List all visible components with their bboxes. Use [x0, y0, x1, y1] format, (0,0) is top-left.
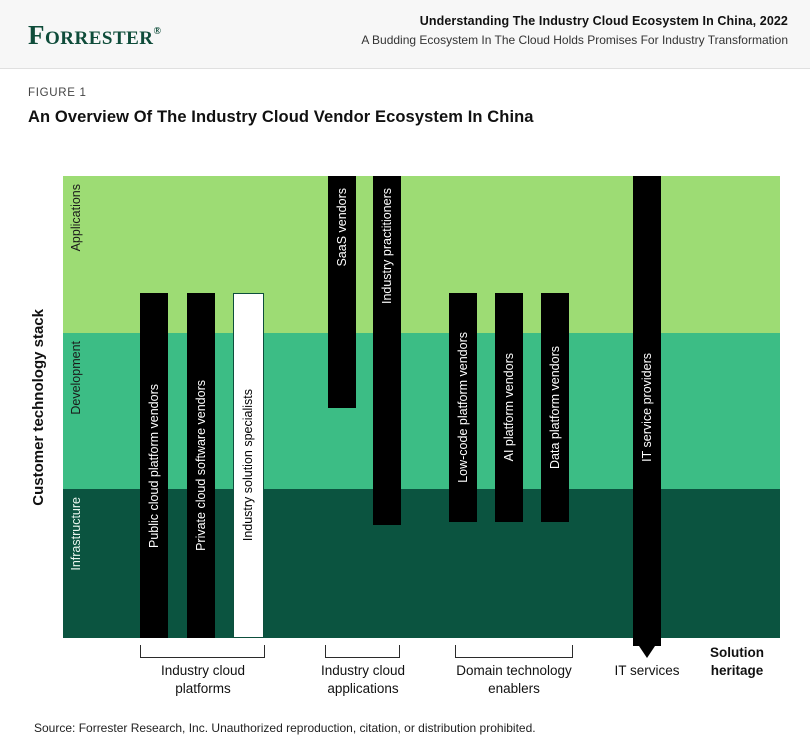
- bar-label-public-cloud-platform-vendors: Public cloud platform vendors: [148, 384, 161, 548]
- source-note: Source: Forrester Research, Inc. Unautho…: [34, 721, 536, 735]
- bar-label-private-cloud-software-vendors: Private cloud software vendors: [195, 380, 208, 551]
- group-label-industry-cloud-applications: Industry cloudapplications: [300, 662, 426, 698]
- y-axis-title-label: Customer technology stack: [30, 309, 47, 506]
- bar-data-platform-vendors[interactable]: Data platform vendors: [541, 293, 569, 522]
- bracket-domain-technology-enablers: [455, 645, 573, 658]
- bar-label-industry-practitioners: Industry practitioners: [381, 188, 394, 304]
- bar-industry-solution-specialists[interactable]: Industry solution specialists: [233, 293, 264, 638]
- bar-label-ai-platform-vendors: AI platform vendors: [503, 353, 516, 461]
- group-label-text-2: Industry cloudapplications: [300, 662, 426, 698]
- bracket-industry-cloud-platforms: [140, 645, 265, 658]
- plot-area: Applications Development Infrastructure …: [63, 176, 780, 638]
- group-label-industry-cloud-platforms: Industry cloudplatforms: [132, 662, 274, 698]
- bar-label-industry-solution-specialists: Industry solution specialists: [242, 389, 255, 541]
- bar-label-low-code-platform-vendors: Low-code platform vendors: [457, 332, 470, 483]
- group-label-text-1: Industry cloudplatforms: [132, 662, 274, 698]
- bar-ai-platform-vendors[interactable]: AI platform vendors: [495, 293, 523, 522]
- bar-label-saas-vendors: SaaS vendors: [336, 188, 349, 267]
- band-label-development: Development: [69, 341, 83, 415]
- chart-container: Customer technology stack Applications D…: [0, 0, 810, 746]
- bar-saas-vendors[interactable]: SaaS vendors: [328, 176, 356, 408]
- band-infrastructure: Infrastructure: [63, 489, 780, 638]
- x-axis-title-label: Solutionheritage: [694, 644, 780, 680]
- y-axis-title: Customer technology stack: [27, 176, 49, 638]
- group-label-domain-technology-enablers: Domain technologyenablers: [438, 662, 590, 698]
- bar-private-cloud-software-vendors[interactable]: Private cloud software vendors: [187, 293, 215, 638]
- bracket-industry-cloud-applications: [325, 645, 400, 658]
- x-axis-title: Solutionheritage: [694, 644, 780, 680]
- band-label-infrastructure: Infrastructure: [69, 497, 83, 571]
- group-label-text-4: IT services: [592, 662, 702, 680]
- bar-public-cloud-platform-vendors[interactable]: Public cloud platform vendors: [140, 293, 168, 638]
- bar-low-code-platform-vendors[interactable]: Low-code platform vendors: [449, 293, 477, 522]
- band-applications: Applications: [63, 176, 780, 333]
- bar-it-service-providers[interactable]: IT service providers: [633, 176, 661, 638]
- it-services-arrow-icon: [639, 646, 655, 658]
- bar-industry-practitioners[interactable]: Industry practitioners: [373, 176, 401, 525]
- band-label-applications: Applications: [69, 184, 83, 251]
- group-label-text-3: Domain technologyenablers: [438, 662, 590, 698]
- it-services-bar-stub: [633, 638, 661, 646]
- bar-label-it-service-providers: IT service providers: [641, 353, 654, 462]
- band-development: Development: [63, 333, 780, 489]
- bar-label-data-platform-vendors: Data platform vendors: [549, 346, 562, 469]
- group-label-it-services: IT services: [592, 662, 702, 680]
